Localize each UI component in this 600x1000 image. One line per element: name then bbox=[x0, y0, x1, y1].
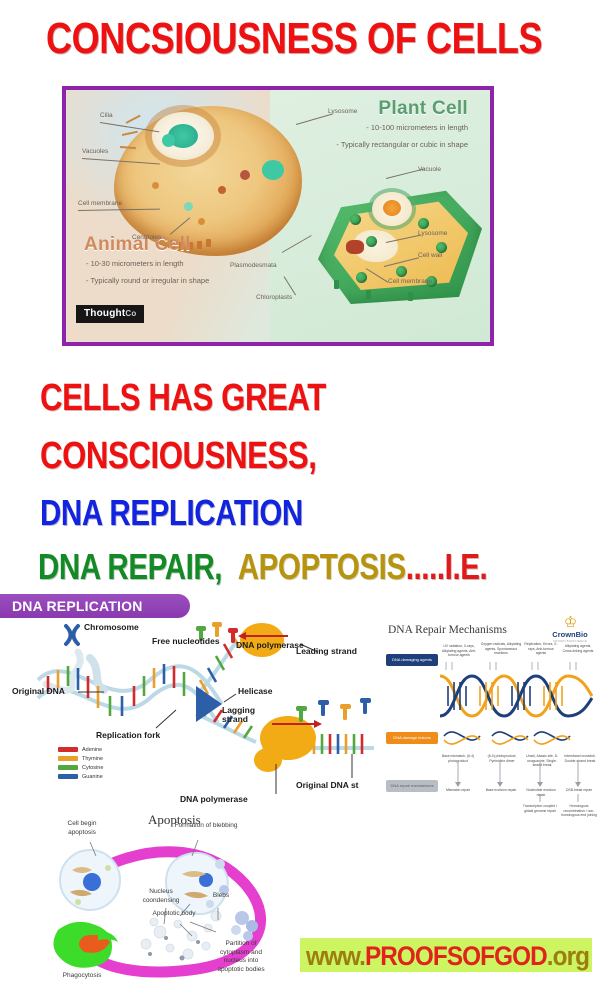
website-url[interactable]: www.PROOFSOFGOD.org bbox=[306, 941, 589, 972]
organelle-icon bbox=[162, 134, 175, 147]
mechanism-text-3: Nucleotide excision repair bbox=[522, 788, 560, 797]
centriole-icon bbox=[197, 241, 202, 249]
legend-swatch-adenine bbox=[58, 747, 78, 752]
headline-ie-suffix: .....i.e. bbox=[406, 546, 488, 587]
label-original-dna-strand: Original DNA st bbox=[296, 780, 359, 790]
apoptosis-diagram: Apoptosis bbox=[40, 812, 340, 1000]
poster-root: CONCSIOUSNESS OF CELLS bbox=[0, 0, 600, 1000]
label-cell-membrane-animal: Cell membrane bbox=[78, 200, 122, 207]
page-title: CONCSIOUSNESS OF CELLS bbox=[46, 16, 542, 62]
nucleotide-legend: Adenine Thymine Cytosine Guanine bbox=[58, 746, 103, 782]
legend-label-cytosine: Cytosine bbox=[82, 765, 103, 771]
label-phagocytosis: Phagocytosis bbox=[54, 972, 110, 981]
label-vacuoles: Vacuoles bbox=[82, 148, 108, 155]
legend-item: Guanine bbox=[58, 773, 103, 782]
mechanism-text-2: Base excision repair bbox=[480, 788, 522, 793]
lesion-text-2: (6-4) photoproduct, Pyrimidine dimer bbox=[482, 754, 522, 763]
watermark-suffix: Co bbox=[125, 309, 136, 318]
dna-replication-banner: DNA REPLICATION bbox=[0, 594, 190, 618]
chloroplast-icon bbox=[356, 272, 367, 283]
organelle-icon bbox=[198, 218, 205, 225]
label-replication-fork: Replication fork bbox=[96, 730, 160, 740]
url-domain: PROOFSOFGOD bbox=[365, 941, 547, 971]
organelle-icon bbox=[184, 202, 193, 211]
plant-bullet-1: - 10-100 micrometers in length bbox=[278, 122, 468, 133]
headline-line-1: CELLS HAS GREAT bbox=[40, 378, 326, 418]
repair-helix-svg bbox=[382, 612, 598, 812]
plant-nucleolus-icon bbox=[383, 200, 401, 216]
label-lysosome-plant: Lysosome bbox=[418, 230, 447, 237]
chloroplast-icon bbox=[366, 236, 377, 247]
organelle-icon bbox=[218, 186, 226, 194]
plant-bullet-2: - Typically rectangular or cubic in shap… bbox=[278, 139, 468, 150]
lesion-text-4: Interstrand crosslink, Double-strand bre… bbox=[562, 754, 598, 763]
legend-swatch-thymine bbox=[58, 756, 78, 761]
headline-apoptosis: APOPTOSIS bbox=[238, 546, 406, 587]
label-helicase: Helicase bbox=[238, 686, 273, 696]
plant-cell-heading: Plant Cell bbox=[378, 98, 468, 120]
headline-line-2: CONSCIOUSNESS, bbox=[40, 436, 316, 476]
label-blebs: Blebs bbox=[208, 892, 234, 901]
label-lagging-strand: Lagging strand bbox=[222, 706, 268, 724]
legend-swatch-guanine bbox=[58, 774, 78, 779]
label-partition-of-cytoplasm: Partition of cytoplasm and nucleus into … bbox=[212, 940, 270, 974]
legend-item: Adenine bbox=[58, 746, 103, 755]
website-banner[interactable]: www.PROOFSOFGOD.org bbox=[300, 938, 592, 972]
organelle-icon bbox=[240, 170, 250, 180]
mechanism-text-4: DSB break repair bbox=[560, 788, 598, 793]
label-chloroplasts: Chloroplasts bbox=[256, 294, 292, 301]
lysosome-icon bbox=[262, 160, 284, 180]
thoughtco-watermark: ThoughtCo bbox=[76, 305, 144, 323]
label-nucleus-condensing: Nucleus coondensing bbox=[140, 888, 182, 905]
headline-line-4: DNA REPAIR, APOPTOSIS.....i.e. bbox=[38, 548, 487, 586]
legend-label-adenine: Adenine bbox=[82, 747, 102, 753]
sub-mechanism-text-2: Homologous recombination / non-homologou… bbox=[560, 804, 598, 818]
url-suffix: .org bbox=[547, 941, 589, 971]
headline-line-3: DNA REPLICATION bbox=[40, 494, 303, 532]
plasmodesmata-icon bbox=[334, 280, 339, 289]
label-dna-polymerase-bottom: DNA polymerase bbox=[180, 794, 248, 804]
url-prefix: www. bbox=[306, 941, 365, 971]
headline-dna-repair: DNA REPAIR, bbox=[38, 546, 222, 587]
legend-item: Thymine bbox=[58, 755, 103, 764]
label-free-nucleotides: Free nucleotides bbox=[152, 636, 220, 646]
organelle-icon bbox=[152, 182, 159, 189]
chloroplast-icon bbox=[396, 266, 407, 277]
legend-label-guanine: Guanine bbox=[82, 774, 103, 780]
label-plasmodesmata: Plasmodesmata bbox=[230, 262, 277, 269]
label-dna-polymerase-top: DNA polymerase bbox=[236, 640, 304, 650]
mechanism-text-1: Mismatch repair bbox=[438, 788, 478, 793]
lesion-text-3: Uracil, Abasic site, 8-oxoguanine, Singl… bbox=[524, 754, 560, 768]
plasmodesmata-icon bbox=[408, 292, 413, 301]
label-chromosome: Chromosome bbox=[84, 622, 139, 632]
label-cell-begin-apoptosis: Cell begin apoptosis bbox=[58, 820, 106, 837]
label-cell-wall: Cell wall bbox=[418, 252, 442, 259]
lesion-text-1: Base mismatch, (6-4) photoproduct bbox=[438, 754, 478, 763]
legend-swatch-cytosine bbox=[58, 765, 78, 770]
label-apoptotic-body: Apoptotic body bbox=[144, 910, 204, 919]
label-cilia: Cilia bbox=[100, 112, 113, 119]
dna-replication-banner-label: DNA REPLICATION bbox=[12, 598, 143, 614]
animal-bullet-2: - Typically round or irregular in shape bbox=[86, 275, 266, 286]
sub-mechanism-text-1: Transcription coupled / global genome re… bbox=[520, 804, 560, 813]
label-cell-membrane-plant: Cell membrane bbox=[388, 278, 432, 285]
chloroplast-icon bbox=[418, 218, 429, 229]
cell-comparison-figure: Plant Cell - 10-100 micrometers in lengt… bbox=[62, 86, 494, 346]
dna-replication-diagram: Chromosome Free nucleotides DNA polymera… bbox=[0, 618, 380, 808]
organelle-icon bbox=[346, 240, 364, 254]
legend-label-thymine: Thymine bbox=[82, 756, 103, 762]
label-original-dna: Original DNA bbox=[12, 686, 65, 696]
label-leading-strand: Leading strand bbox=[296, 646, 357, 656]
dna-repair-panel: DNA Repair Mechanisms ♔ CrownBio CROWN B… bbox=[382, 612, 598, 812]
plant-cell-bullets: - 10-100 micrometers in length - Typical… bbox=[278, 122, 468, 156]
legend-item: Cytosine bbox=[58, 764, 103, 773]
plasmodesmata-icon bbox=[366, 290, 371, 299]
label-centrioles: Centrioles bbox=[132, 234, 161, 241]
label-formation-of-blebbing: Formation of blebbing bbox=[168, 822, 244, 831]
chloroplast-icon bbox=[350, 214, 361, 225]
watermark-text: Thought bbox=[84, 308, 125, 319]
centriole-icon bbox=[206, 239, 211, 247]
